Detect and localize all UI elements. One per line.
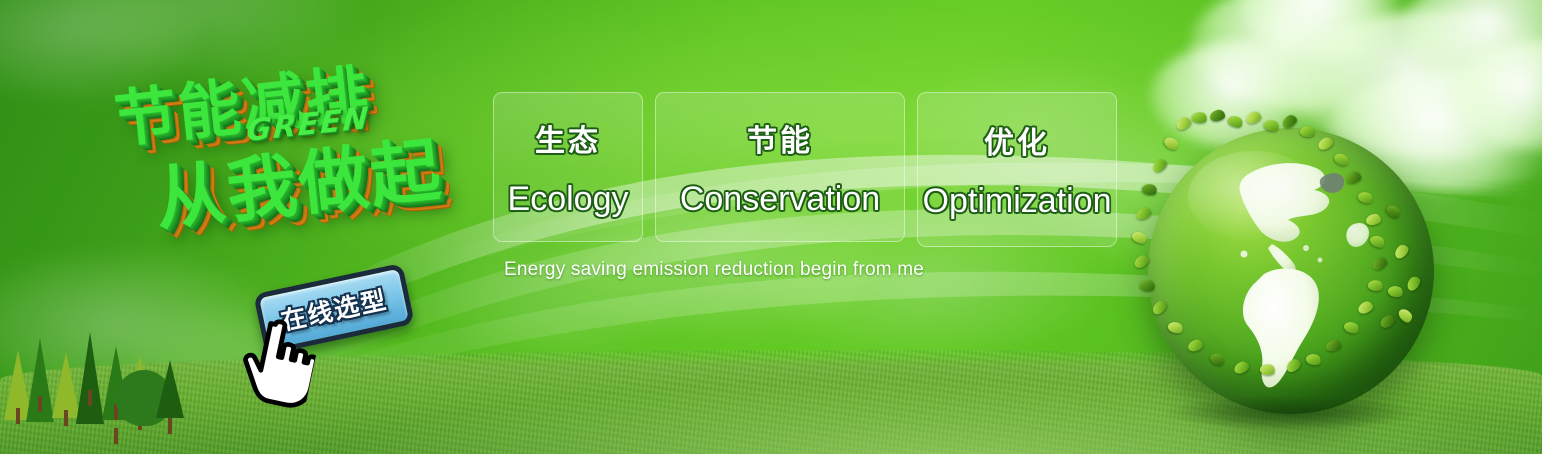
conifer-tree-icon [156, 360, 184, 418]
card-title-en: Optimization [923, 182, 1112, 221]
cloud-icon [430, 230, 690, 360]
card-title-zh: 节能 [747, 116, 813, 160]
card-title-zh: 优化 [984, 118, 1050, 162]
card-title-en: Conservation [680, 180, 880, 219]
conifer-tree-icon [76, 332, 104, 424]
cloud-icon [1450, 40, 1542, 150]
green-earth-globe-with-ivy [1148, 128, 1434, 414]
tagline: Energy saving emission reduction begin f… [504, 259, 924, 281]
headline-green-overlay: GREEN [246, 101, 372, 149]
globe-ground-shadow [1165, 396, 1417, 430]
conifer-tree-group [0, 334, 200, 430]
continents-icon [1148, 128, 1434, 414]
green-energy-banner: 节能减排 GREEN 从我做起 在线选型 生态 Ecology 节能 Conse… [0, 0, 1542, 454]
cloud-icon [1400, 0, 1542, 90]
headline-3d: 节能减排 GREEN 从我做起 [93, 24, 515, 295]
cloud-icon [0, 0, 200, 100]
conifer-tree-icon [26, 338, 54, 422]
online-selection-button[interactable]: 在线选型 [253, 263, 415, 355]
feature-card-ecology[interactable]: 生态 Ecology [493, 92, 643, 242]
headline-line-1: 节能减排 [110, 43, 374, 159]
headline-line-2: 从我做起 [150, 114, 447, 245]
card-title-en: Ecology [508, 180, 629, 219]
cloud-icon [1240, 0, 1430, 60]
card-title-zh: 生态 [535, 116, 601, 160]
cloud-icon [60, 0, 360, 80]
cta-label: 在线选型 [253, 263, 415, 355]
cloud-icon [1190, 0, 1430, 110]
feature-card-list: 生态 Ecology 节能 Conservation 优化 Optimizati… [493, 92, 1117, 247]
feature-card-conservation[interactable]: 节能 Conservation [655, 92, 905, 242]
feature-card-optimization[interactable]: 优化 Optimization [917, 92, 1117, 247]
globe-sphere [1148, 128, 1434, 414]
